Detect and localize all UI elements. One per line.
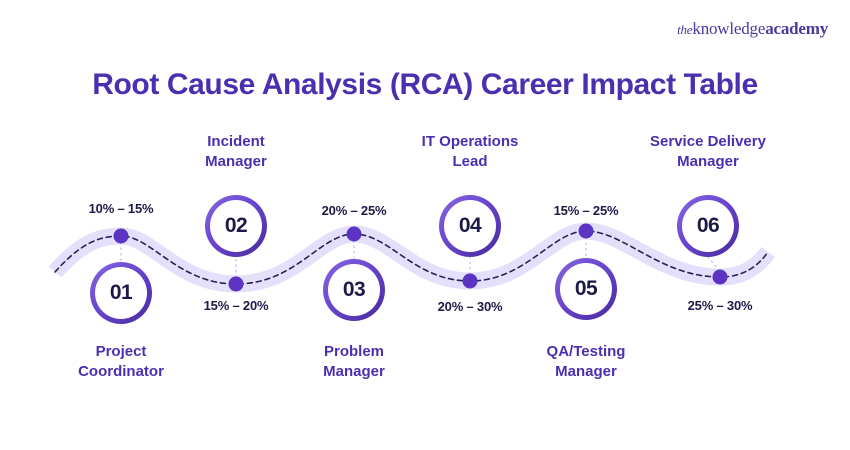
step-number-label: 06 [697,214,719,238]
step-circle-06[interactable]: 06 [682,200,734,252]
step-circle-01[interactable]: 01 [95,267,147,319]
logo-knowledge-text: knowledge [692,19,765,38]
wave-node-dot [347,227,362,242]
step-role-label: Project Coordinator [26,342,216,382]
step-percent-label: 15% – 20% [171,298,301,313]
step-percent-label: 20% – 30% [405,299,535,314]
step-number-label: 05 [575,277,597,301]
wave-band [55,231,768,284]
step-circle-02[interactable]: 02 [210,200,262,252]
logo-the-text: the [677,22,692,37]
step-circle-04[interactable]: 04 [444,200,496,252]
wave-node-dot [463,274,478,289]
step-role-label: Problem Manager [259,342,449,382]
step-role-label: IT Operations Lead [375,132,565,172]
page-title: Root Cause Analysis (RCA) Career Impact … [0,68,850,102]
wave-node-dot [713,270,728,285]
infographic-canvas: theknowledgeacademy Root Cause Analysis … [0,0,850,450]
step-role-label: Service Delivery Manager [613,132,803,172]
step-number-label: 03 [343,278,365,302]
step-number-label: 04 [459,214,481,238]
step-percent-label: 20% – 25% [289,203,419,218]
brand-logo: theknowledgeacademy [677,19,828,39]
step-circle-05[interactable]: 05 [560,263,612,315]
wave-node-dot [579,224,594,239]
step-percent-label: 15% – 25% [521,203,651,218]
step-number-label: 01 [110,281,132,305]
wave-node-dot [229,277,244,292]
logo-academy-text: academy [765,19,828,38]
wave-dashed-line [55,231,768,284]
step-percent-label: 10% – 15% [56,201,186,216]
step-circle-03[interactable]: 03 [328,264,380,316]
step-percent-label: 25% – 30% [655,298,785,313]
step-role-label: Incident Manager [141,132,331,172]
wave-node-dot [114,229,129,244]
step-role-label: QA/Testing Manager [491,342,681,382]
step-number-label: 02 [225,214,247,238]
step-connector-line [708,257,720,271]
